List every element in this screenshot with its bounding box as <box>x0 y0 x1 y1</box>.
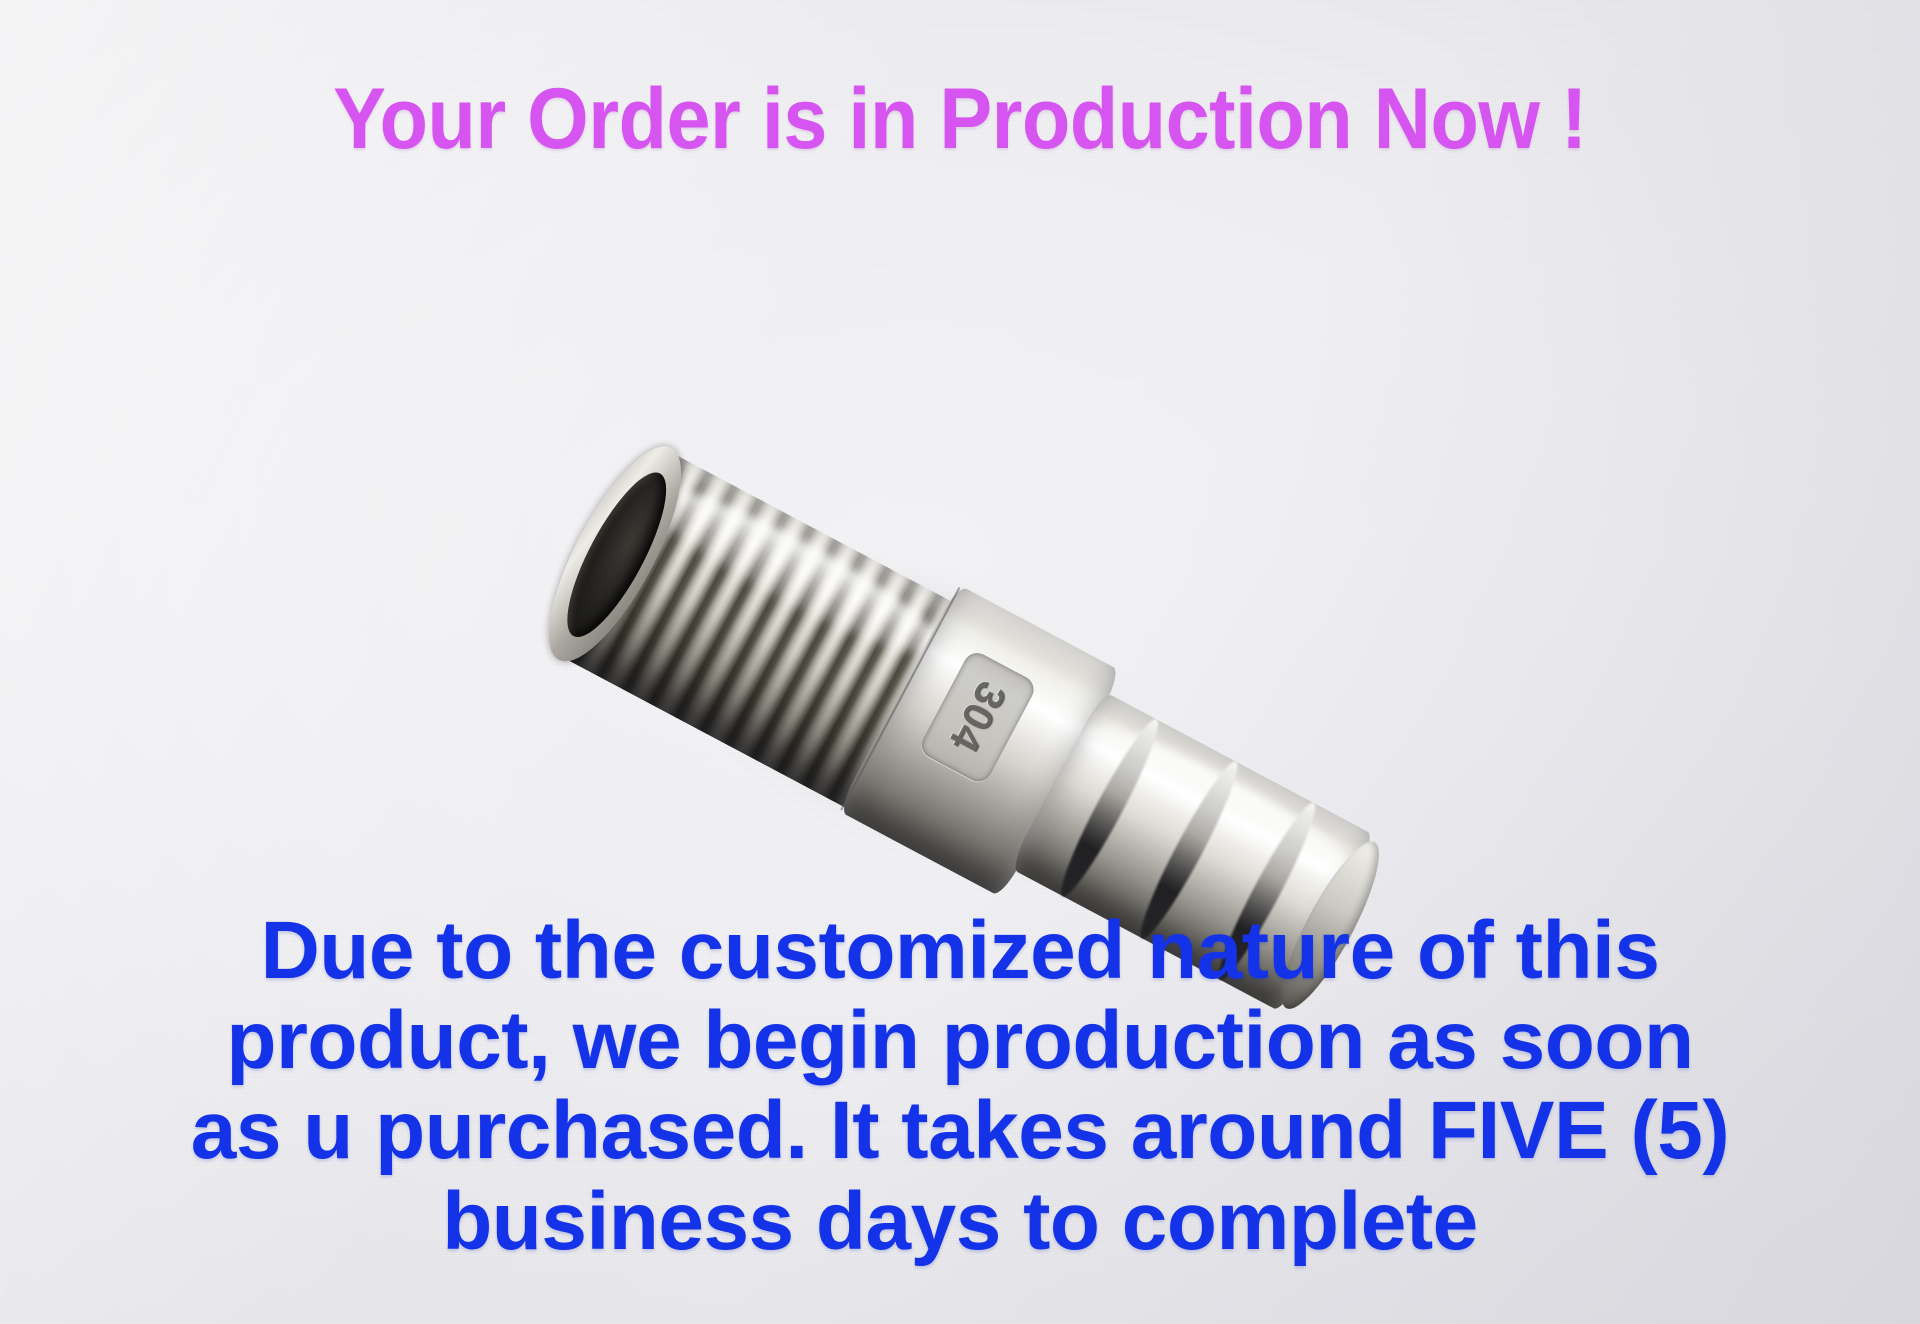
hex-flats-section <box>838 584 1122 897</box>
production-notice-text: Due to the customized nature of this pro… <box>150 906 1770 1267</box>
notice-line: business days to complete <box>150 1177 1770 1267</box>
barb-highlight <box>1075 709 1362 892</box>
notice-line: as u purchased. It takes around FIVE (5) <box>150 1086 1770 1176</box>
production-notice-banner: Your Order is in Production Now ! 304 Du… <box>0 0 1920 1324</box>
barb-groove-1 <box>1051 713 1168 902</box>
bore-opening <box>550 461 684 649</box>
hex-edge-line <box>840 587 960 810</box>
threaded-end <box>549 445 969 815</box>
thread-highlight <box>625 461 958 677</box>
notice-line: product, we begin production as soon <box>150 996 1770 1086</box>
material-stamp-label: 304 <box>939 674 1016 761</box>
notice-line: Due to the customized nature of this <box>150 906 1770 996</box>
product-drop-shadow <box>548 441 1292 980</box>
bore-face <box>524 430 706 679</box>
material-stamp: 304 <box>917 648 1039 786</box>
page-title: Your Order is in Production Now ! <box>77 76 1843 162</box>
